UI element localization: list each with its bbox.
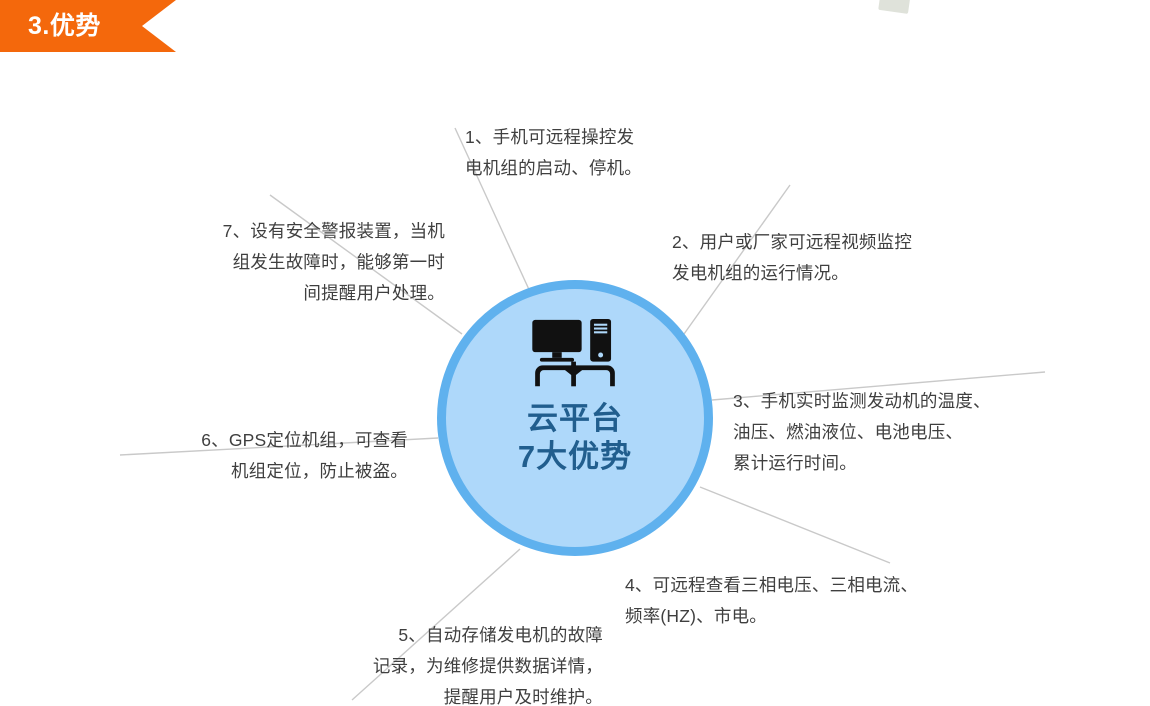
feature-item-6: 6、GPS定位机组，可查看 机组定位，防止被盗。 — [158, 425, 408, 487]
feature-item-3: 3、手机实时监测发动机的温度、 油压、燃油液位、电池电压、 累计运行时间。 — [733, 386, 1048, 479]
feature-item-7: 7、设有安全警报装置，当机 组发生故障时，能够第一时 间提醒用户处理。 — [175, 216, 445, 309]
spoke-line-4 — [700, 487, 890, 563]
hub-title-line-2: 7大优势 — [518, 438, 632, 476]
hub-title-line-1: 云平台 — [527, 401, 623, 436]
feature-item-1: 1、手机可远程操控发 电机组的启动、停机。 — [465, 122, 695, 184]
hub-title: 云平台 7大优势 — [518, 400, 632, 476]
feature-item-4: 4、可远程查看三相电压、三相电流、 频率(HZ)、市电。 — [625, 570, 985, 632]
infographic-page: 3.优势 — [0, 0, 1150, 706]
desktop-computer-network-icon — [527, 318, 623, 392]
feature-item-2: 2、用户或厂家可远程视频监控 发电机组的运行情况。 — [672, 227, 982, 289]
central-hub: 云平台 7大优势 — [437, 280, 713, 556]
feature-item-5: 5、自动存储发电机的故障 记录，为维修提供数据详情， 提醒用户及时维护。 — [338, 620, 603, 706]
